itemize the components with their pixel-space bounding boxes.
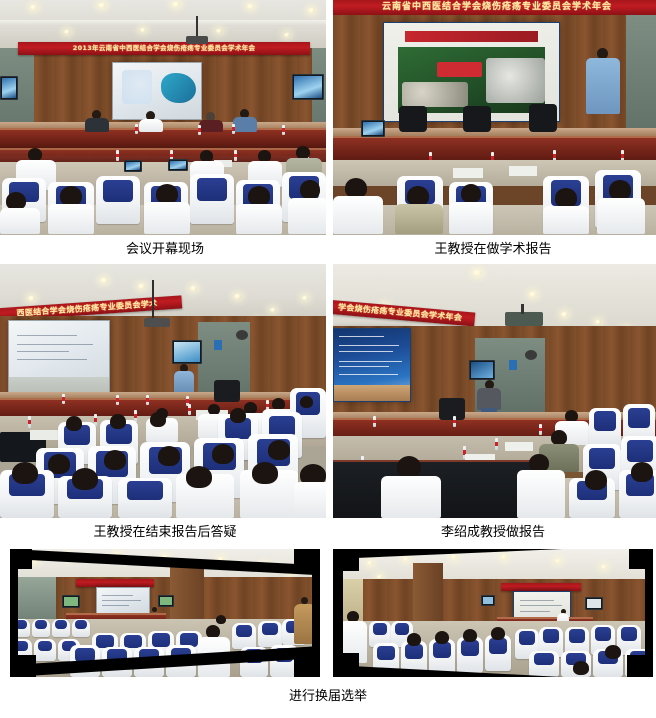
- photo-1-caption: 会议开幕现场: [0, 235, 330, 260]
- photo-1[interactable]: 2013年云南省中西医结合学会烧伤疮疡专业委员会学术年会: [0, 0, 326, 235]
- photo-2[interactable]: 云南省中西医结合学会烧伤疮疡专业委员会学术年会: [333, 0, 656, 235]
- photo-5[interactable]: [10, 549, 320, 677]
- photo-2-banner: 云南省中西医结合学会烧伤疮疡专业委员会学术年会: [333, 0, 656, 15]
- photo-cell-2: 云南省中西医结合学会烧伤疮疡专业委员会学术年会: [330, 0, 656, 260]
- photo-cell-1: 2013年云南省中西医结合学会烧伤疮疡专业委员会学术年会: [0, 0, 330, 260]
- photo-4-caption: 李绍成教授做报告: [330, 518, 656, 543]
- photo-row-1: 2013年云南省中西医结合学会烧伤疮疡专业委员会学术年会: [0, 0, 656, 260]
- photo-row-3-caption: 进行换届选举: [0, 677, 656, 707]
- photo-6[interactable]: [333, 549, 653, 677]
- photo-cell-5: [10, 549, 333, 677]
- photo-grid: 2013年云南省中西医结合学会烧伤疮疡专业委员会学术年会: [0, 0, 656, 707]
- photo-1-banner: 2013年云南省中西医结合学会烧伤疮疡专业委员会学术年会: [18, 42, 310, 55]
- photo-row-2: 西医结合学会烧伤疮疡专业委员会学术: [0, 264, 656, 543]
- photo-3-caption: 王教授在结束报告后答疑: [0, 518, 330, 543]
- photo-4[interactable]: 学会烧伤疮疡专业委员会学术年会: [333, 264, 656, 518]
- photo-2-caption: 王教授在做学术报告: [330, 235, 656, 260]
- photo-cell-6: [333, 549, 656, 677]
- photo-3[interactable]: 西医结合学会烧伤疮疡专业委员会学术: [0, 264, 326, 518]
- photo-cell-4: 学会烧伤疮疡专业委员会学术年会: [330, 264, 656, 543]
- photo-cell-3: 西医结合学会烧伤疮疡专业委员会学术: [0, 264, 330, 543]
- photo-row-3: [0, 549, 656, 677]
- photo-gallery-page: 2013年云南省中西医结合学会烧伤疮疡专业委员会学术年会: [0, 0, 656, 718]
